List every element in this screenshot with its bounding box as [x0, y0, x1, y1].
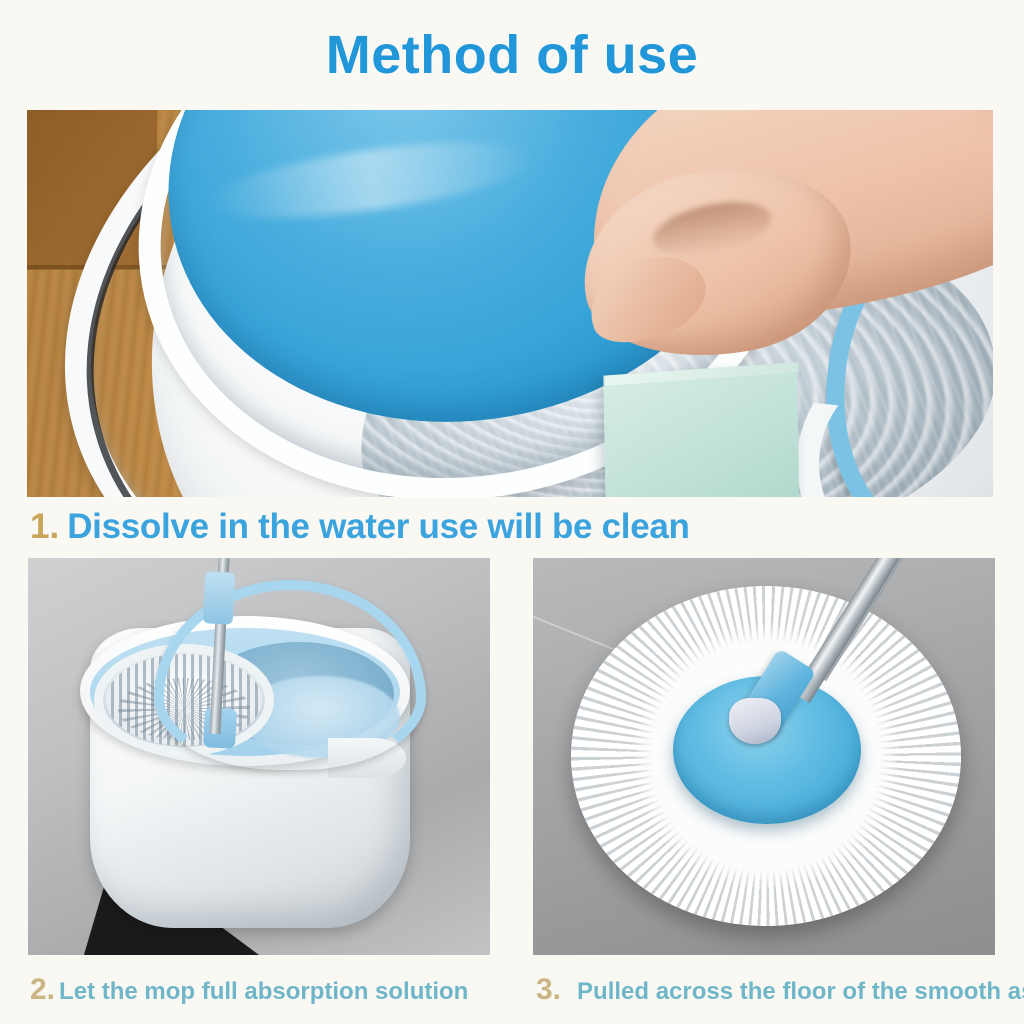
step-2-number: 2.: [30, 973, 55, 1006]
mop-pole-collar: [203, 571, 236, 624]
step-1-scene: [27, 110, 993, 497]
step-3-caption: 3.Pulled across the floor of the smooth …: [536, 972, 1024, 1008]
step-1-number: 1.: [30, 507, 59, 546]
product-instruction-page: Method of use 1.Dissolv: [0, 0, 1024, 1024]
step-1-caption-text: Dissolve in the water use will be clean: [67, 507, 689, 546]
step-2-caption: 2.Let the mop full absorption solution: [30, 972, 468, 1008]
step-3-caption-text: Pulled across the floor of the smooth as…: [577, 978, 1024, 1005]
step-3-image: [533, 558, 995, 955]
page-title: Method of use: [0, 28, 1024, 82]
step-1-caption: 1.Dissolve in the water use will be clea…: [30, 506, 990, 548]
step-3-scene: [533, 558, 995, 955]
step-3-number: 3.: [536, 973, 561, 1006]
step-2-image: [28, 558, 490, 955]
step-2-scene: [28, 558, 490, 955]
step-1-image: [27, 110, 993, 497]
step-2-caption-text: Let the mop full absorption solution: [59, 978, 468, 1005]
mop-head-clip: [729, 698, 781, 744]
